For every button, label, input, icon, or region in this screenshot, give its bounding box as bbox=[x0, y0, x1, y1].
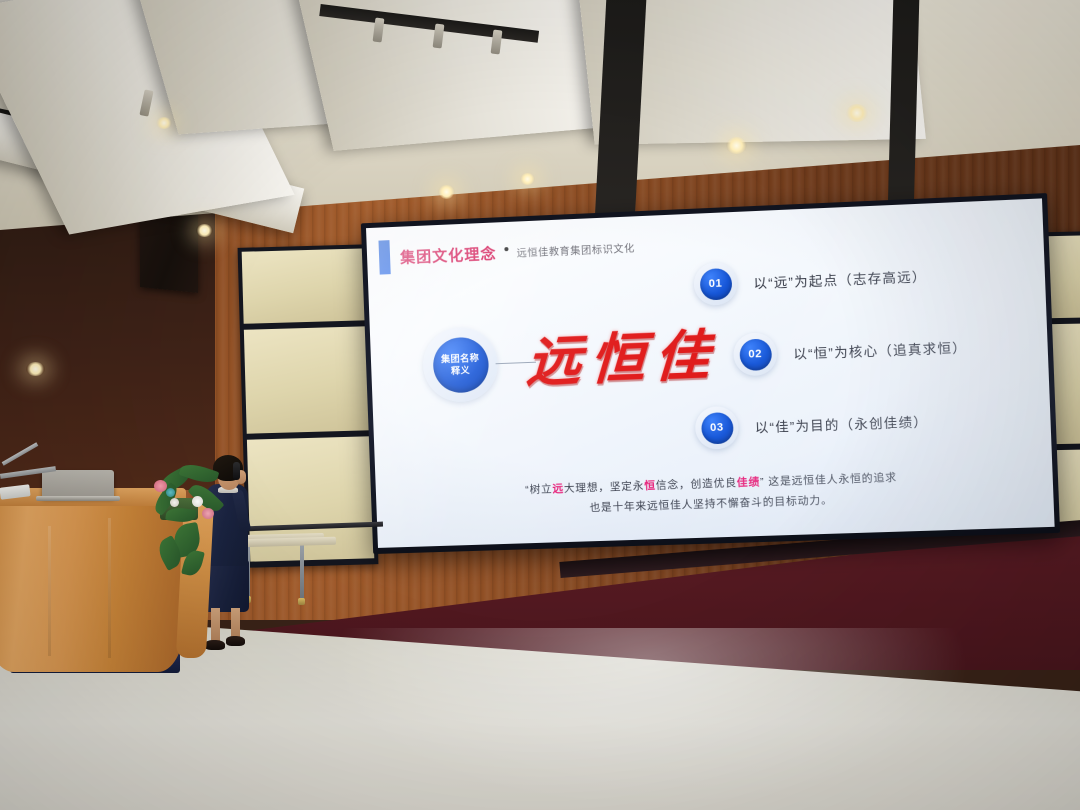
slide-header: 集团文化理念 远恒佳教育集团标识文化 bbox=[378, 229, 635, 274]
badge-number-03: 03 bbox=[700, 412, 733, 445]
presenter-leg-left bbox=[211, 608, 220, 644]
downlight-5 bbox=[726, 137, 747, 154]
presenter-shoe-left bbox=[205, 640, 225, 650]
footer-highlight-heng: 恒 bbox=[644, 480, 656, 493]
bloom-pink-1 bbox=[154, 480, 167, 492]
slide-item-03: 03 以“佳”为目的（永创佳绩） bbox=[695, 399, 929, 450]
presentation-photo-scene: 集团文化理念 远恒佳教育集团标识文化 集团名称 释义 远恒佳 01 以“远”为起… bbox=[0, 0, 1080, 810]
downlight-1 bbox=[196, 224, 213, 237]
downlight-4 bbox=[520, 173, 535, 185]
hub-label-line2: 释义 bbox=[451, 364, 471, 377]
hub-circle-inner: 集团名称 释义 bbox=[432, 336, 489, 393]
badge-halo-01: 01 bbox=[693, 262, 738, 306]
bloom-white-1 bbox=[192, 496, 203, 507]
header-bullet-icon bbox=[504, 247, 508, 251]
floor-light-reflection bbox=[330, 628, 970, 808]
footer-seg-2: 大理想，坚定永 bbox=[564, 480, 645, 495]
projection-screen[interactable]: 集团文化理念 远恒佳教育集团标识文化 集团名称 释义 远恒佳 01 以“远”为起… bbox=[366, 198, 1055, 548]
footer-highlight-jiaji: 佳绩 bbox=[737, 476, 761, 489]
bloom-teal-1 bbox=[166, 488, 175, 497]
cloth-fold-2 bbox=[108, 518, 111, 658]
leaf-2 bbox=[179, 460, 220, 486]
flower-arrangement bbox=[140, 462, 230, 582]
badge-number-01: 01 bbox=[699, 267, 732, 300]
bloom-white-2 bbox=[170, 498, 179, 507]
side-table-foot-2 bbox=[298, 598, 305, 605]
downlight-7 bbox=[156, 117, 172, 129]
item-text-01: 以“远”为起点（志存高远） bbox=[753, 265, 927, 291]
badge-number-02: 02 bbox=[739, 338, 772, 371]
footer-seg-1: “树立 bbox=[525, 483, 553, 496]
downlight-6 bbox=[846, 104, 868, 122]
item-text-03: 以“佳”为目的（永创佳绩） bbox=[754, 411, 928, 436]
presenter-shoe-right bbox=[226, 636, 245, 646]
badge-halo-03: 03 bbox=[695, 406, 740, 450]
slide-footer-quote: “树立远大理想，坚定永恒信念，创造优良佳绩” 这是远恒佳人永恒的追求 也是十年来… bbox=[376, 463, 1054, 526]
slide-item-01: 01 以“远”为起点（志存高远） bbox=[693, 254, 927, 306]
footer-seg-3: 信念，创造优良 bbox=[656, 477, 737, 492]
item-text-02: 以“恒”为核心（追真求恒） bbox=[793, 336, 967, 362]
panel-pane-2 bbox=[244, 326, 371, 433]
downlight-3 bbox=[438, 185, 455, 199]
panel-pane-1 bbox=[242, 248, 368, 323]
slide-content: 集团文化理念 远恒佳教育集团标识文化 集团名称 释义 远恒佳 01 以“远”为起… bbox=[366, 198, 1055, 548]
header-accent-bar bbox=[378, 240, 390, 274]
footer-seg-4: ” 这是远恒佳人永恒的追求 bbox=[760, 472, 897, 489]
hub-circle: 集团名称 释义 bbox=[422, 326, 499, 403]
brand-name-calligraphy: 远恒佳 bbox=[525, 310, 721, 397]
slide-subtitle: 远恒佳教育集团标识文化 bbox=[516, 239, 635, 259]
microphone bbox=[233, 462, 240, 480]
bloom-pink-2 bbox=[202, 508, 214, 519]
side-table-leg-2 bbox=[300, 542, 304, 600]
cloth-fold-1 bbox=[48, 526, 51, 656]
hub-label-line1: 集团名称 bbox=[441, 352, 480, 366]
leaf-5 bbox=[165, 506, 197, 524]
laptop bbox=[42, 470, 114, 498]
slide-title: 集团文化理念 bbox=[400, 242, 497, 267]
laptop-base bbox=[36, 496, 120, 501]
left-wall-panel-group bbox=[238, 244, 379, 568]
badge-halo-02: 02 bbox=[733, 332, 778, 376]
downlight-2 bbox=[26, 362, 45, 376]
slide-item-02: 02 以“恒”为核心（追真求恒） bbox=[733, 325, 968, 377]
footer-highlight-yuan: 远 bbox=[552, 483, 564, 495]
